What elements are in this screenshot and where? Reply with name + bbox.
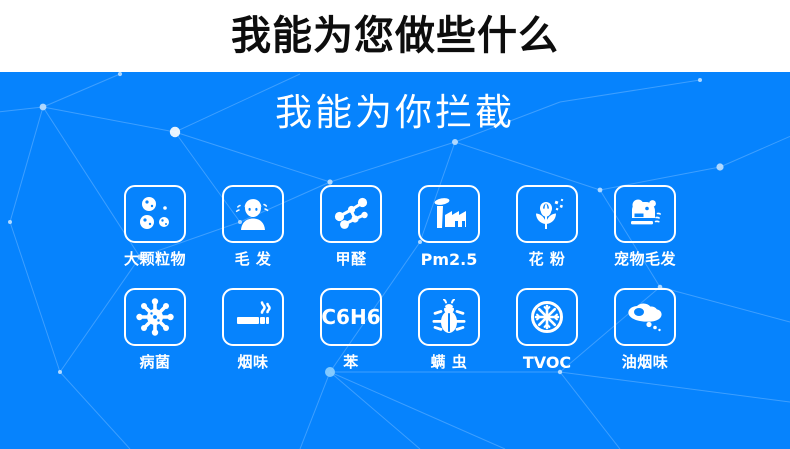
page-root: 我能为您做些什么 — [0, 0, 790, 449]
pollutant-label: 病菌 — [139, 355, 170, 370]
pollutant-item-pm25[interactable]: Pm2.5 — [416, 185, 482, 268]
pollutant-item-germs[interactable]: 病菌 — [122, 288, 188, 371]
top-heading-band: 我能为您做些什么 — [0, 0, 790, 72]
large-particles-icon — [124, 185, 186, 243]
formaldehyde-molecule-icon — [320, 185, 382, 243]
pollutant-item-pollen[interactable]: 花 粉 — [514, 185, 580, 268]
pollutant-label: 油烟味 — [622, 355, 669, 370]
pollutant-item-smoke-odor[interactable]: 烟味 — [220, 288, 286, 371]
pollutant-label: 毛 发 — [235, 252, 272, 267]
pollutant-row-1: 大颗粒物 — [122, 185, 678, 268]
pollen-flower-icon — [516, 185, 578, 243]
pollutant-item-cooking-fumes[interactable]: 油烟味 — [612, 288, 678, 371]
pet-dog-icon — [614, 185, 676, 243]
dust-mite-bug-icon — [418, 288, 480, 346]
pollutant-row-2: 病菌 — [122, 288, 678, 371]
pollutant-label: 苯 — [343, 355, 359, 370]
pollutant-label: 烟味 — [237, 355, 268, 370]
benzene-formula-text: C6H6 — [321, 305, 380, 329]
pollutant-label: 花 粉 — [529, 252, 566, 267]
pollutant-label: Pm2.5 — [421, 252, 478, 268]
pollutant-item-formaldehyde[interactable]: 甲醛 — [318, 185, 384, 268]
pollutant-label: TVOC — [523, 355, 571, 371]
page-title: 我能为您做些什么 — [231, 16, 559, 56]
pollutant-label: 大颗粒物 — [124, 252, 186, 267]
factory-smoke-icon — [418, 185, 480, 243]
hair-person-icon — [222, 185, 284, 243]
pollutant-item-dust-mite[interactable]: 螨 虫 — [416, 288, 482, 371]
snowflake-fan-icon — [516, 288, 578, 346]
pollutant-item-large-particles[interactable]: 大颗粒物 — [122, 185, 188, 268]
blocked-pollutants-grid: 大颗粒物 — [122, 185, 678, 391]
pollutant-item-hair[interactable]: 毛 发 — [220, 185, 286, 268]
cigarette-smoke-icon — [222, 288, 284, 346]
benzene-c6h6-icon: C6H6 — [320, 288, 382, 346]
pollutant-item-benzene[interactable]: C6H6 苯 — [318, 288, 384, 371]
germ-virus-icon — [124, 288, 186, 346]
pollutant-label: 螨 虫 — [431, 355, 468, 370]
cooking-fume-cloud-icon — [614, 288, 676, 346]
pollutant-item-pet-hair[interactable]: 宠物毛发 — [612, 185, 678, 268]
pollutant-item-tvoc[interactable]: TVOC — [514, 288, 580, 371]
pollutant-label: 甲醛 — [335, 252, 366, 267]
pollutant-label: 宠物毛发 — [614, 252, 676, 267]
blue-feature-panel: 我能为你拦截 — [0, 72, 790, 449]
panel-title: 我能为你拦截 — [0, 94, 790, 131]
